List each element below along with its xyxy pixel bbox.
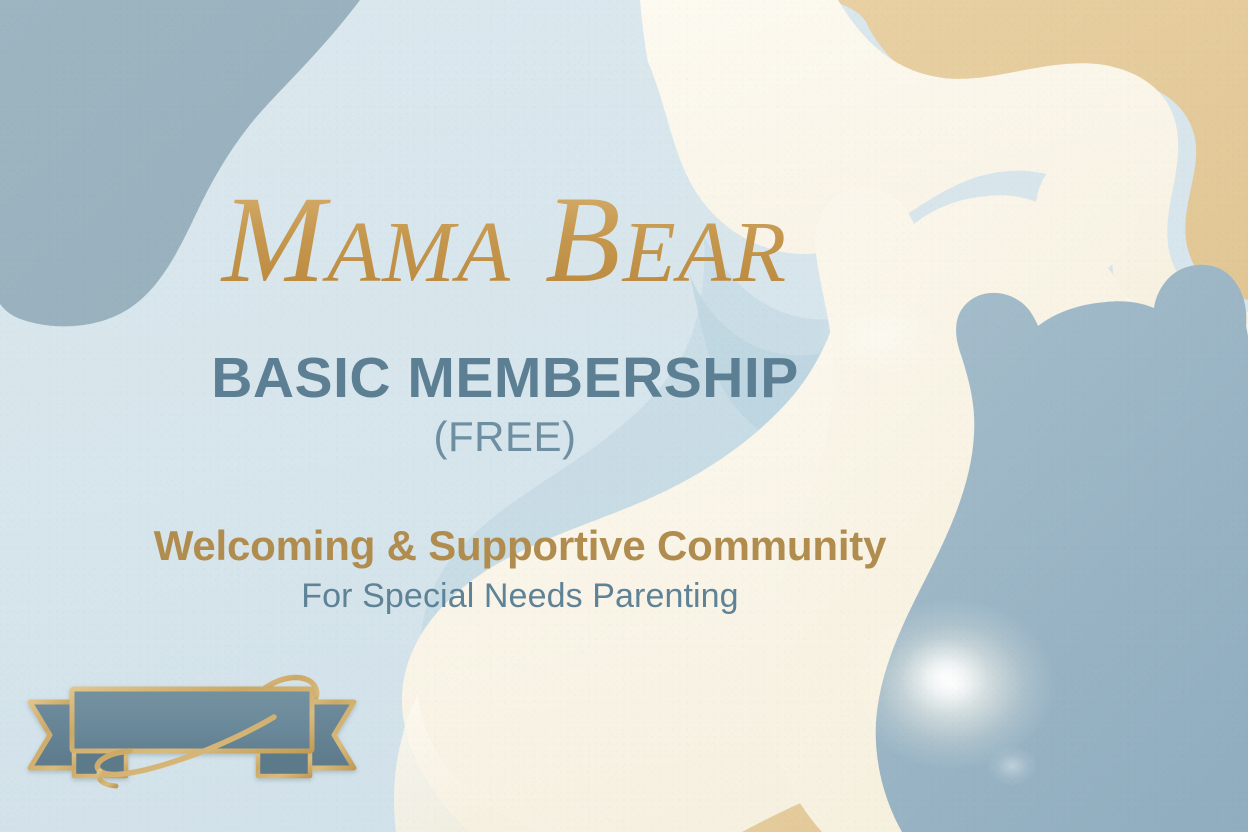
- membership-block: BASIC MEMBERSHIP (FREE): [0, 348, 1010, 460]
- tagline-headline: Welcoming & Supportive Community: [0, 522, 1040, 569]
- tagline-subline: For Special Needs Parenting: [0, 577, 1040, 615]
- join-now-button[interactable]: JOIN NOW: [22, 655, 362, 795]
- ribbon-banner-graphic: [22, 655, 362, 795]
- membership-poster: Mama Bear BASIC MEMBERSHIP (FREE) Welcom…: [0, 0, 1248, 832]
- page-title: Mama Bear: [0, 178, 1010, 302]
- poster-content: Mama Bear BASIC MEMBERSHIP (FREE) Welcom…: [0, 0, 1248, 832]
- tagline-block: Welcoming & Supportive Community For Spe…: [0, 522, 1040, 615]
- brand-title-block: Mama Bear: [0, 178, 1010, 302]
- ribbon-main-panel: [72, 689, 312, 751]
- membership-tier-label: BASIC MEMBERSHIP: [0, 348, 1010, 410]
- membership-price-label: (FREE): [0, 414, 1010, 460]
